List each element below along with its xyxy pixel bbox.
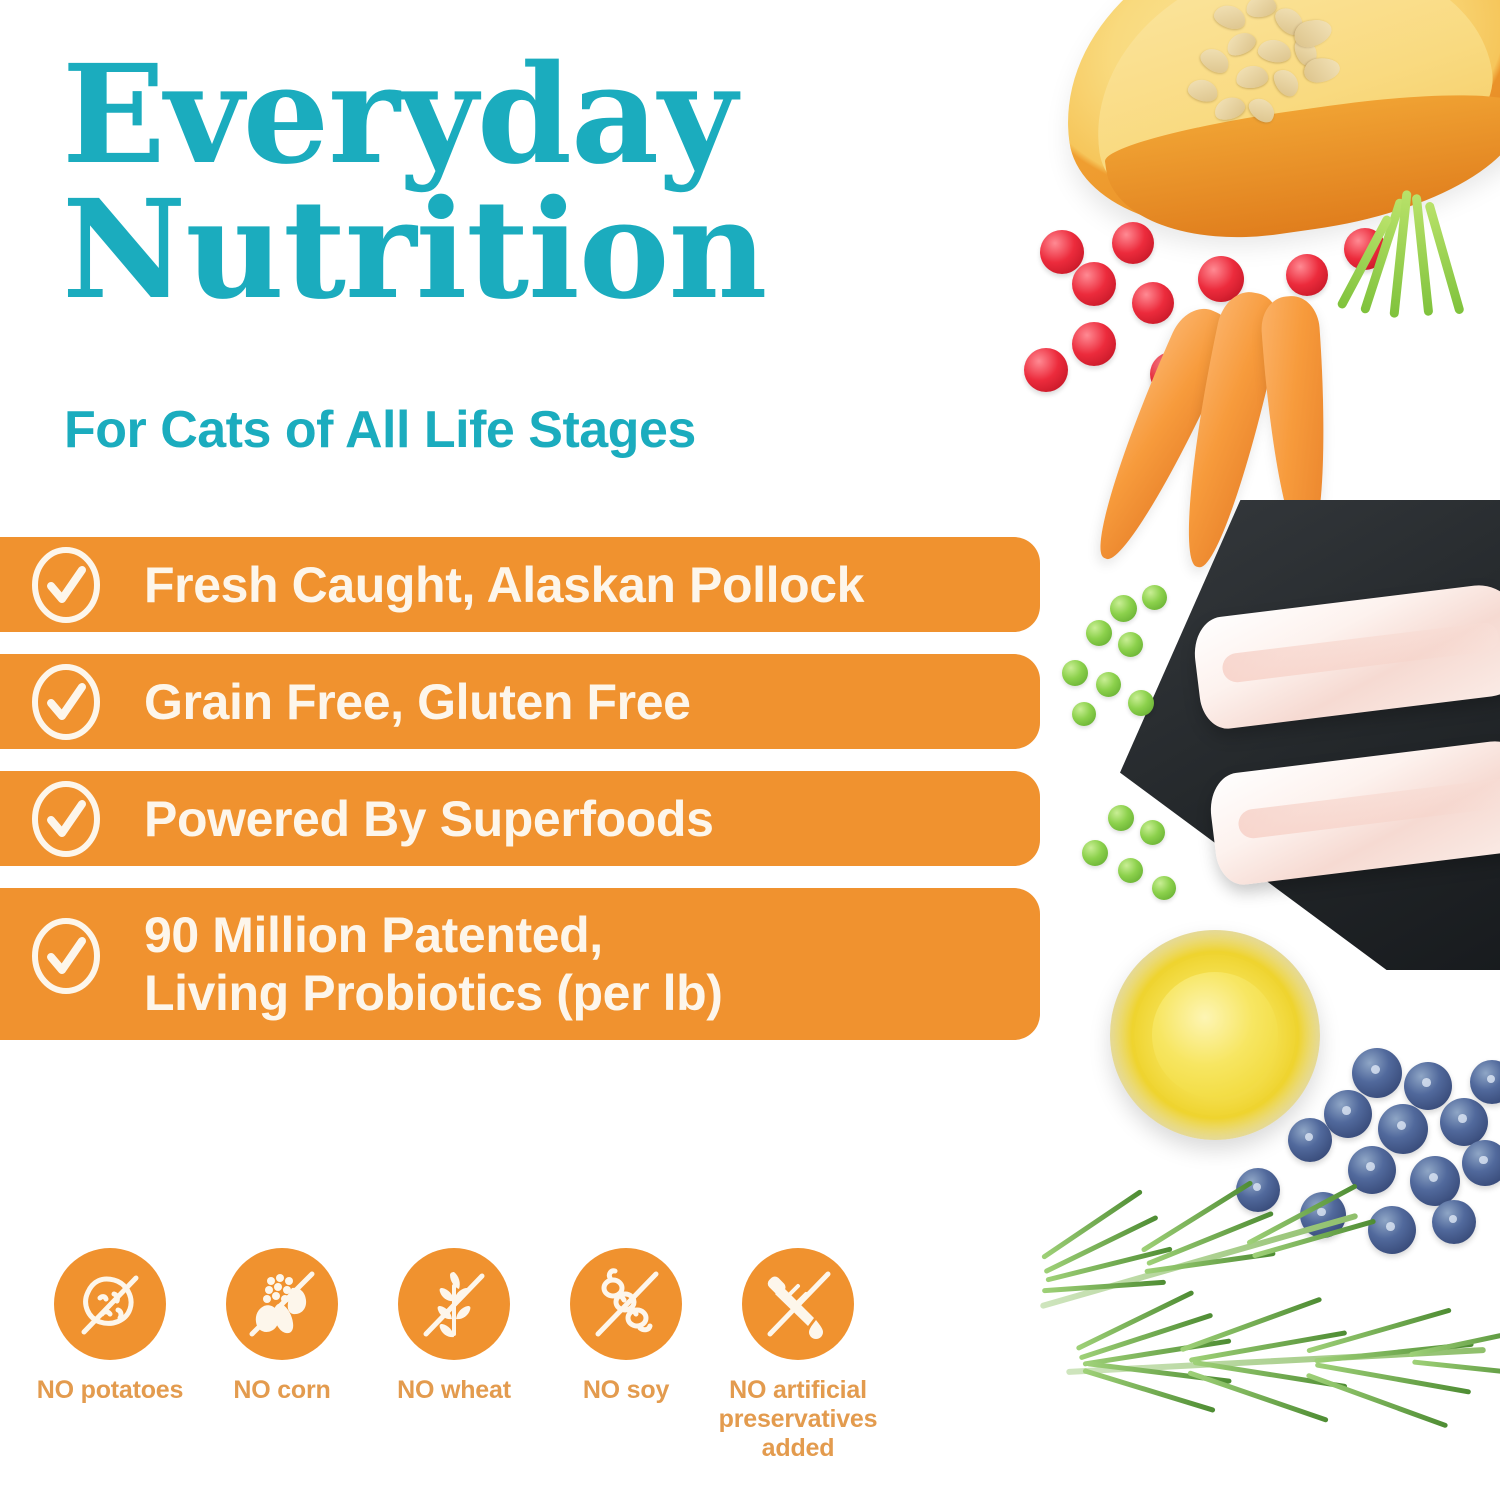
feature-bar[interactable]: Grain Free, Gluten Free: [0, 654, 1040, 749]
feature-bar-label: Fresh Caught, Alaskan Pollock: [144, 556, 864, 614]
feature-bar-list: Fresh Caught, Alaskan Pollock Grain Free…: [0, 537, 1060, 1062]
exclusion-badge[interactable]: NO soy: [540, 1248, 712, 1405]
infographic-canvas: Everyday Nutrition For Cats of All Life …: [0, 0, 1500, 1500]
exclusion-badge[interactable]: NO artificial preservatives added: [712, 1248, 884, 1462]
exclusion-badge-label: NO potatoes: [37, 1376, 183, 1405]
check-circle-icon: [30, 916, 102, 996]
feature-bar-label: 90 Million Patented, Living Probiotics (…: [144, 906, 723, 1022]
exclusion-badge-label: NO wheat: [397, 1376, 511, 1405]
exclusion-badge[interactable]: NO potatoes: [24, 1248, 196, 1405]
exclusion-badge-label: NO soy: [583, 1376, 669, 1405]
no-wheat-icon: [398, 1248, 510, 1360]
feature-bar[interactable]: 90 Million Patented, Living Probiotics (…: [0, 888, 1040, 1040]
exclusion-badge[interactable]: NO corn: [196, 1248, 368, 1405]
feature-bar-label: Powered By Superfoods: [144, 790, 713, 848]
no-potato-icon: [54, 1248, 166, 1360]
exclusion-badge-label: NO artificial preservatives added: [719, 1376, 878, 1462]
no-corn-icon: [226, 1248, 338, 1360]
food-photo-collage: [1000, 0, 1500, 1500]
feature-bar-label: Grain Free, Gluten Free: [144, 673, 691, 731]
exclusion-badge-row: NO potatoes: [24, 1248, 944, 1462]
exclusion-badge[interactable]: NO wheat: [368, 1248, 540, 1405]
check-circle-icon: [30, 779, 102, 859]
page-title: Everyday Nutrition: [62, 48, 942, 317]
feature-bar[interactable]: Fresh Caught, Alaskan Pollock: [0, 537, 1040, 632]
feature-bar[interactable]: Powered By Superfoods: [0, 771, 1040, 866]
exclusion-badge-label: NO corn: [233, 1376, 330, 1405]
oil-bowl-photo: [1110, 930, 1320, 1140]
page-subtitle: For Cats of All Life Stages: [64, 400, 964, 460]
no-soy-icon: [570, 1248, 682, 1360]
no-preservatives-icon: [742, 1248, 854, 1360]
content-column: Everyday Nutrition For Cats of All Life …: [0, 0, 1060, 1500]
check-circle-icon: [30, 545, 102, 625]
check-circle-icon: [30, 662, 102, 742]
